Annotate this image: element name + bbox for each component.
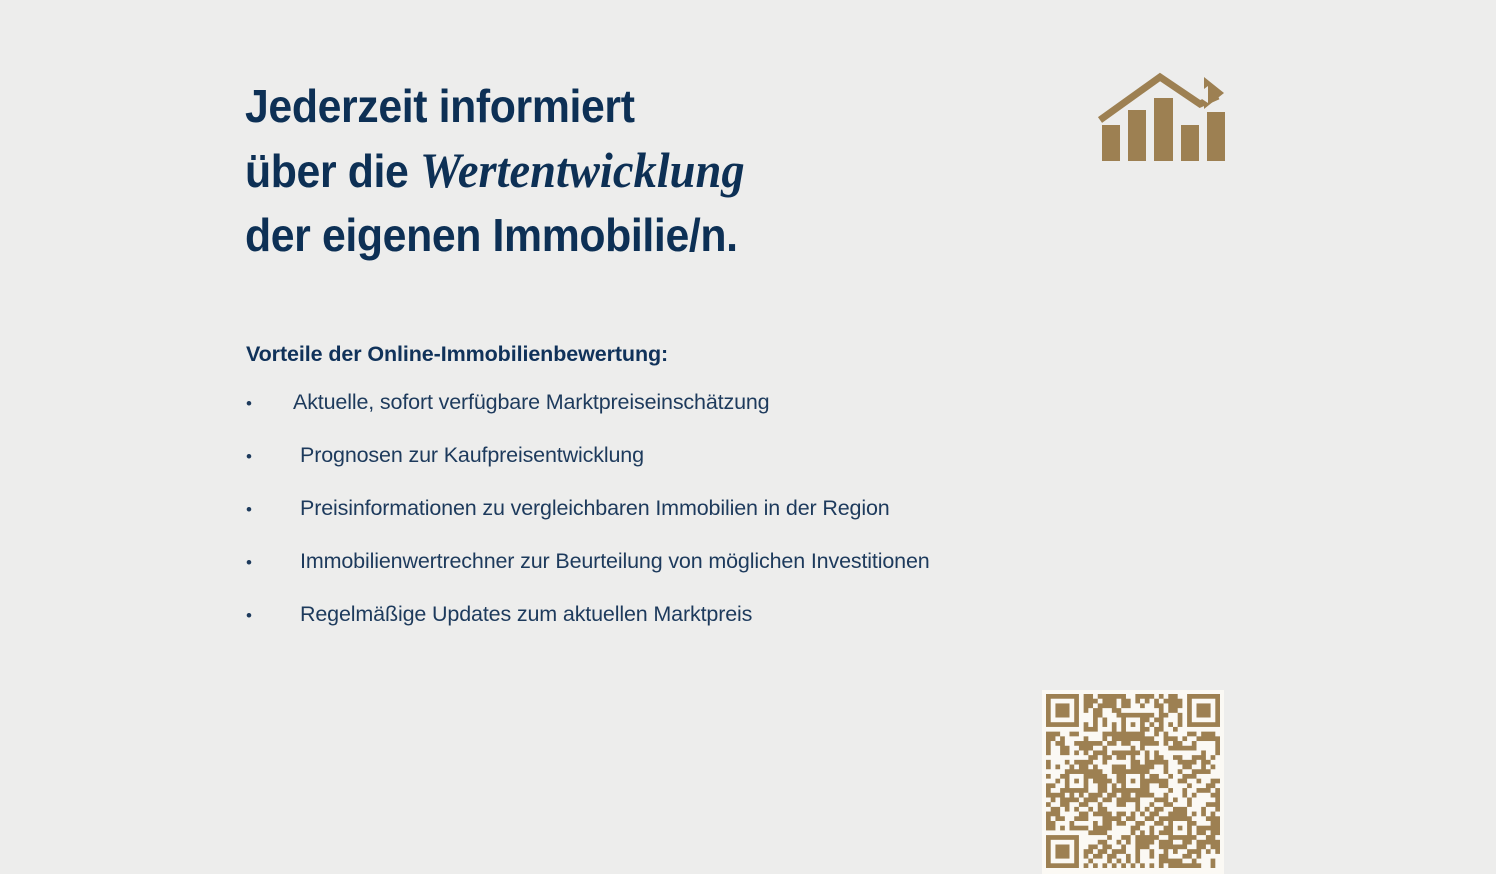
bullet-dot-icon: •	[246, 548, 260, 578]
list-item: • Regelmäßige Updates zum aktuellen Mark…	[246, 599, 1206, 652]
bar-chart-trend-icon	[1092, 68, 1226, 164]
list-item-label: Regelmäßige Updates zum aktuellen Marktp…	[300, 599, 752, 629]
slide-canvas: Jederzeit informiert über die Wertentwic…	[0, 0, 1496, 874]
headline-line-2-prefix: über die	[245, 145, 420, 197]
bullet-dot-icon: •	[246, 389, 260, 419]
headline-line-2: über die Wertentwicklung	[245, 138, 1008, 203]
bar-chart-trend-svg	[1092, 68, 1226, 164]
benefits-heading: Vorteile der Online-Immobilienbewertung:	[246, 340, 1206, 368]
headline-line-3: der eigenen Immobilie/n.	[245, 203, 1008, 267]
bullet-dot-icon: •	[246, 601, 260, 631]
list-item-label: Preisinformationen zu vergleichbaren Imm…	[300, 493, 890, 523]
qr-code-panel[interactable]	[1042, 690, 1224, 874]
list-item-label: Aktuelle, sofort verfügbare Marktpreisei…	[293, 387, 770, 417]
page-title: Jederzeit informiert über die Wertentwic…	[245, 74, 1008, 267]
list-item-label: Immobilienwertrechner zur Beurteilung vo…	[300, 546, 930, 576]
list-item: • Immobilienwertrechner zur Beurteilung …	[246, 546, 1206, 599]
list-item-label: Prognosen zur Kaufpreisentwicklung	[300, 440, 644, 470]
qr-code[interactable]	[1046, 694, 1220, 868]
bullet-dot-icon: •	[246, 495, 260, 525]
list-item: • Preisinformationen zu vergleichbaren I…	[246, 493, 1206, 546]
benefits-section: Vorteile der Online-Immobilienbewertung:…	[246, 340, 1206, 652]
headline-line-1: Jederzeit informiert	[245, 74, 1008, 138]
list-item: • Prognosen zur Kaufpreisentwicklung	[246, 440, 1206, 493]
headline-emphasis-wertentwicklung: Wertentwicklung	[420, 142, 745, 198]
bullet-dot-icon: •	[246, 442, 260, 472]
list-item: • Aktuelle, sofort verfügbare Marktpreis…	[246, 387, 1206, 440]
